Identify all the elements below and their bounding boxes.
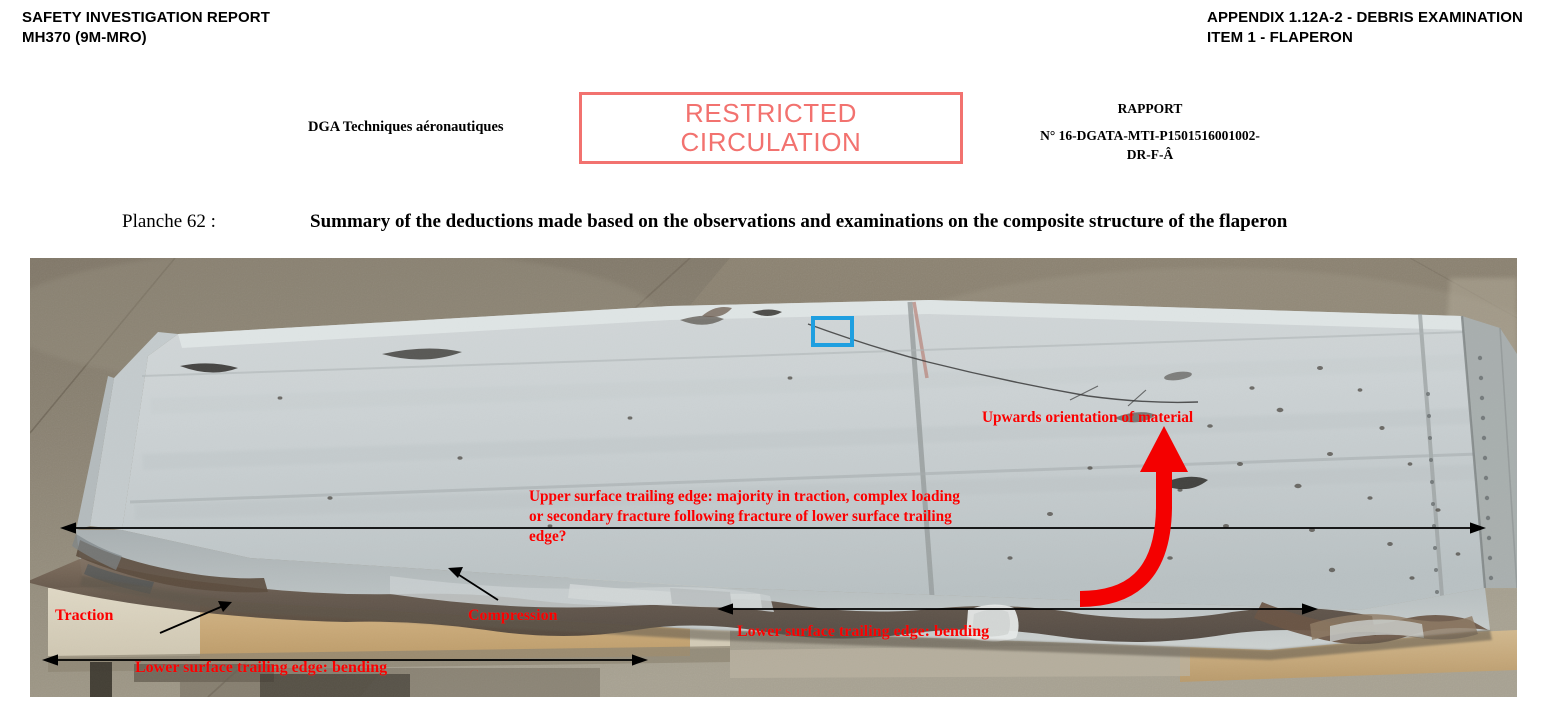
plate-title: Summary of the deductions made based on … xyxy=(310,211,1287,233)
plate-number-label: Planche 62 : xyxy=(122,211,216,233)
stamp-line-circulation: CIRCULATION xyxy=(681,128,862,157)
report-title-line1: SAFETY INVESTIGATION REPORT xyxy=(22,8,270,28)
rapport-title: RAPPORT xyxy=(1000,99,1300,119)
report-title-line2: MH370 (9M-MRO) xyxy=(22,28,270,48)
flaperon-photograph: Upper surface trailing edge: majority in… xyxy=(30,258,1517,697)
appendix-line1: APPENDIX 1.12A-2 - DEBRIS EXAMINATION xyxy=(1207,8,1523,28)
appendix-line2: ITEM 1 - FLAPERON xyxy=(1207,28,1523,48)
rapport-number-line2: DR-F-Â xyxy=(1000,145,1300,165)
rapport-reference-block: RAPPORT N° 16-DGATA-MTI-P1501516001002- … xyxy=(1000,99,1300,165)
rapport-number-line1: N° 16-DGATA-MTI-P1501516001002- xyxy=(1000,126,1300,146)
stamp-line-restricted: RESTRICTED xyxy=(685,99,857,128)
organisation-label: DGA Techniques aéronautiques xyxy=(308,119,504,136)
report-header-left: SAFETY INVESTIGATION REPORT MH370 (9M-MR… xyxy=(22,8,270,48)
flaperon-photo-rendering xyxy=(30,258,1517,697)
restricted-circulation-stamp: RESTRICTED CIRCULATION xyxy=(579,92,963,164)
report-header-right: APPENDIX 1.12A-2 - DEBRIS EXAMINATION IT… xyxy=(1207,8,1523,48)
